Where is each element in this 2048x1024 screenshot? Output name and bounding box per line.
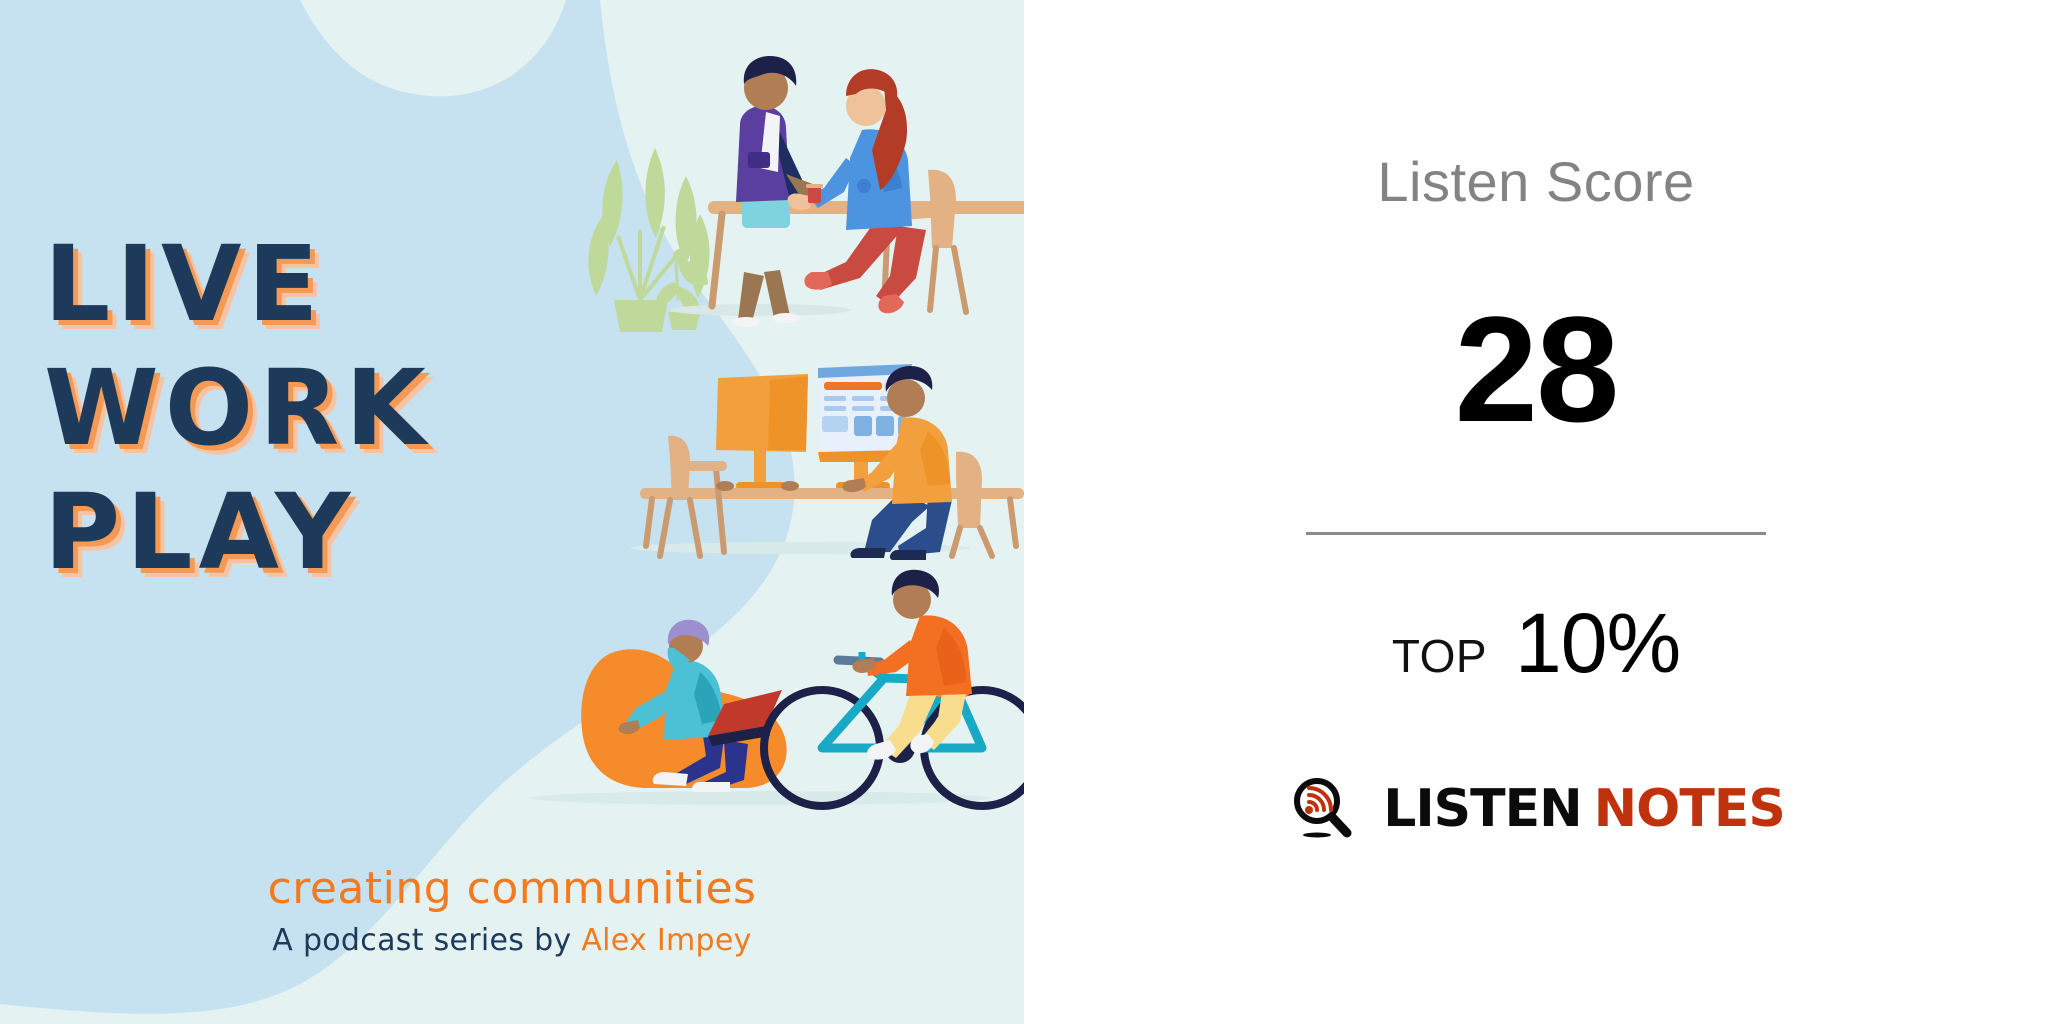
- score-rank-row: TOP 10%: [1392, 601, 1680, 685]
- cover-subtitle-block: creating communities A podcast series by…: [0, 862, 1024, 960]
- cover-title: LIVE WORK PLAY: [44, 222, 524, 594]
- cover-tagline: creating communities: [0, 862, 1024, 916]
- two-people-at-table-illustration: [588, 56, 1024, 332]
- brand-word-listen: LISTEN: [1383, 779, 1581, 839]
- occupied-chair-shape: [952, 452, 992, 556]
- listen-score-label: Listen Score: [1377, 152, 1694, 212]
- byline-prefix: A podcast series by: [272, 923, 581, 958]
- cover-title-line-2: WORK: [44, 346, 524, 470]
- score-divider: [1306, 532, 1766, 535]
- cyclist-figure: [764, 570, 1024, 806]
- brand-word-notes: NOTES: [1594, 779, 1785, 839]
- podcast-cover-art[interactable]: LIVE WORK PLAY creating communities A po…: [0, 0, 1024, 1024]
- listen-score-value: 28: [1455, 294, 1618, 444]
- byline-author: Alex Impey: [581, 923, 751, 958]
- cover-title-line-1: LIVE: [44, 222, 524, 346]
- cover-byline: A podcast series by Alex Impey: [0, 922, 1024, 960]
- potted-plant-icon: [588, 148, 709, 332]
- beanbag-figure: [581, 620, 786, 792]
- cover-title-line-3: PLAY: [44, 470, 524, 594]
- rank-percent-value: 10%: [1515, 601, 1680, 685]
- magnifier-rss-icon: [1287, 773, 1359, 845]
- person-at-desk-illustration: [630, 364, 1024, 560]
- rank-prefix-label: TOP: [1392, 633, 1487, 679]
- listen-notes-brand[interactable]: LISTENNOTES: [1287, 773, 1785, 845]
- beanbag-and-cyclist-illustration: [530, 570, 1024, 806]
- listen-score-panel: Listen Score 28 TOP 10% LISTENNOTES: [1024, 0, 2048, 1024]
- listen-notes-wordmark: LISTENNOTES: [1383, 781, 1785, 837]
- listen-score-card: LIVE WORK PLAY creating communities A po…: [0, 0, 2048, 1024]
